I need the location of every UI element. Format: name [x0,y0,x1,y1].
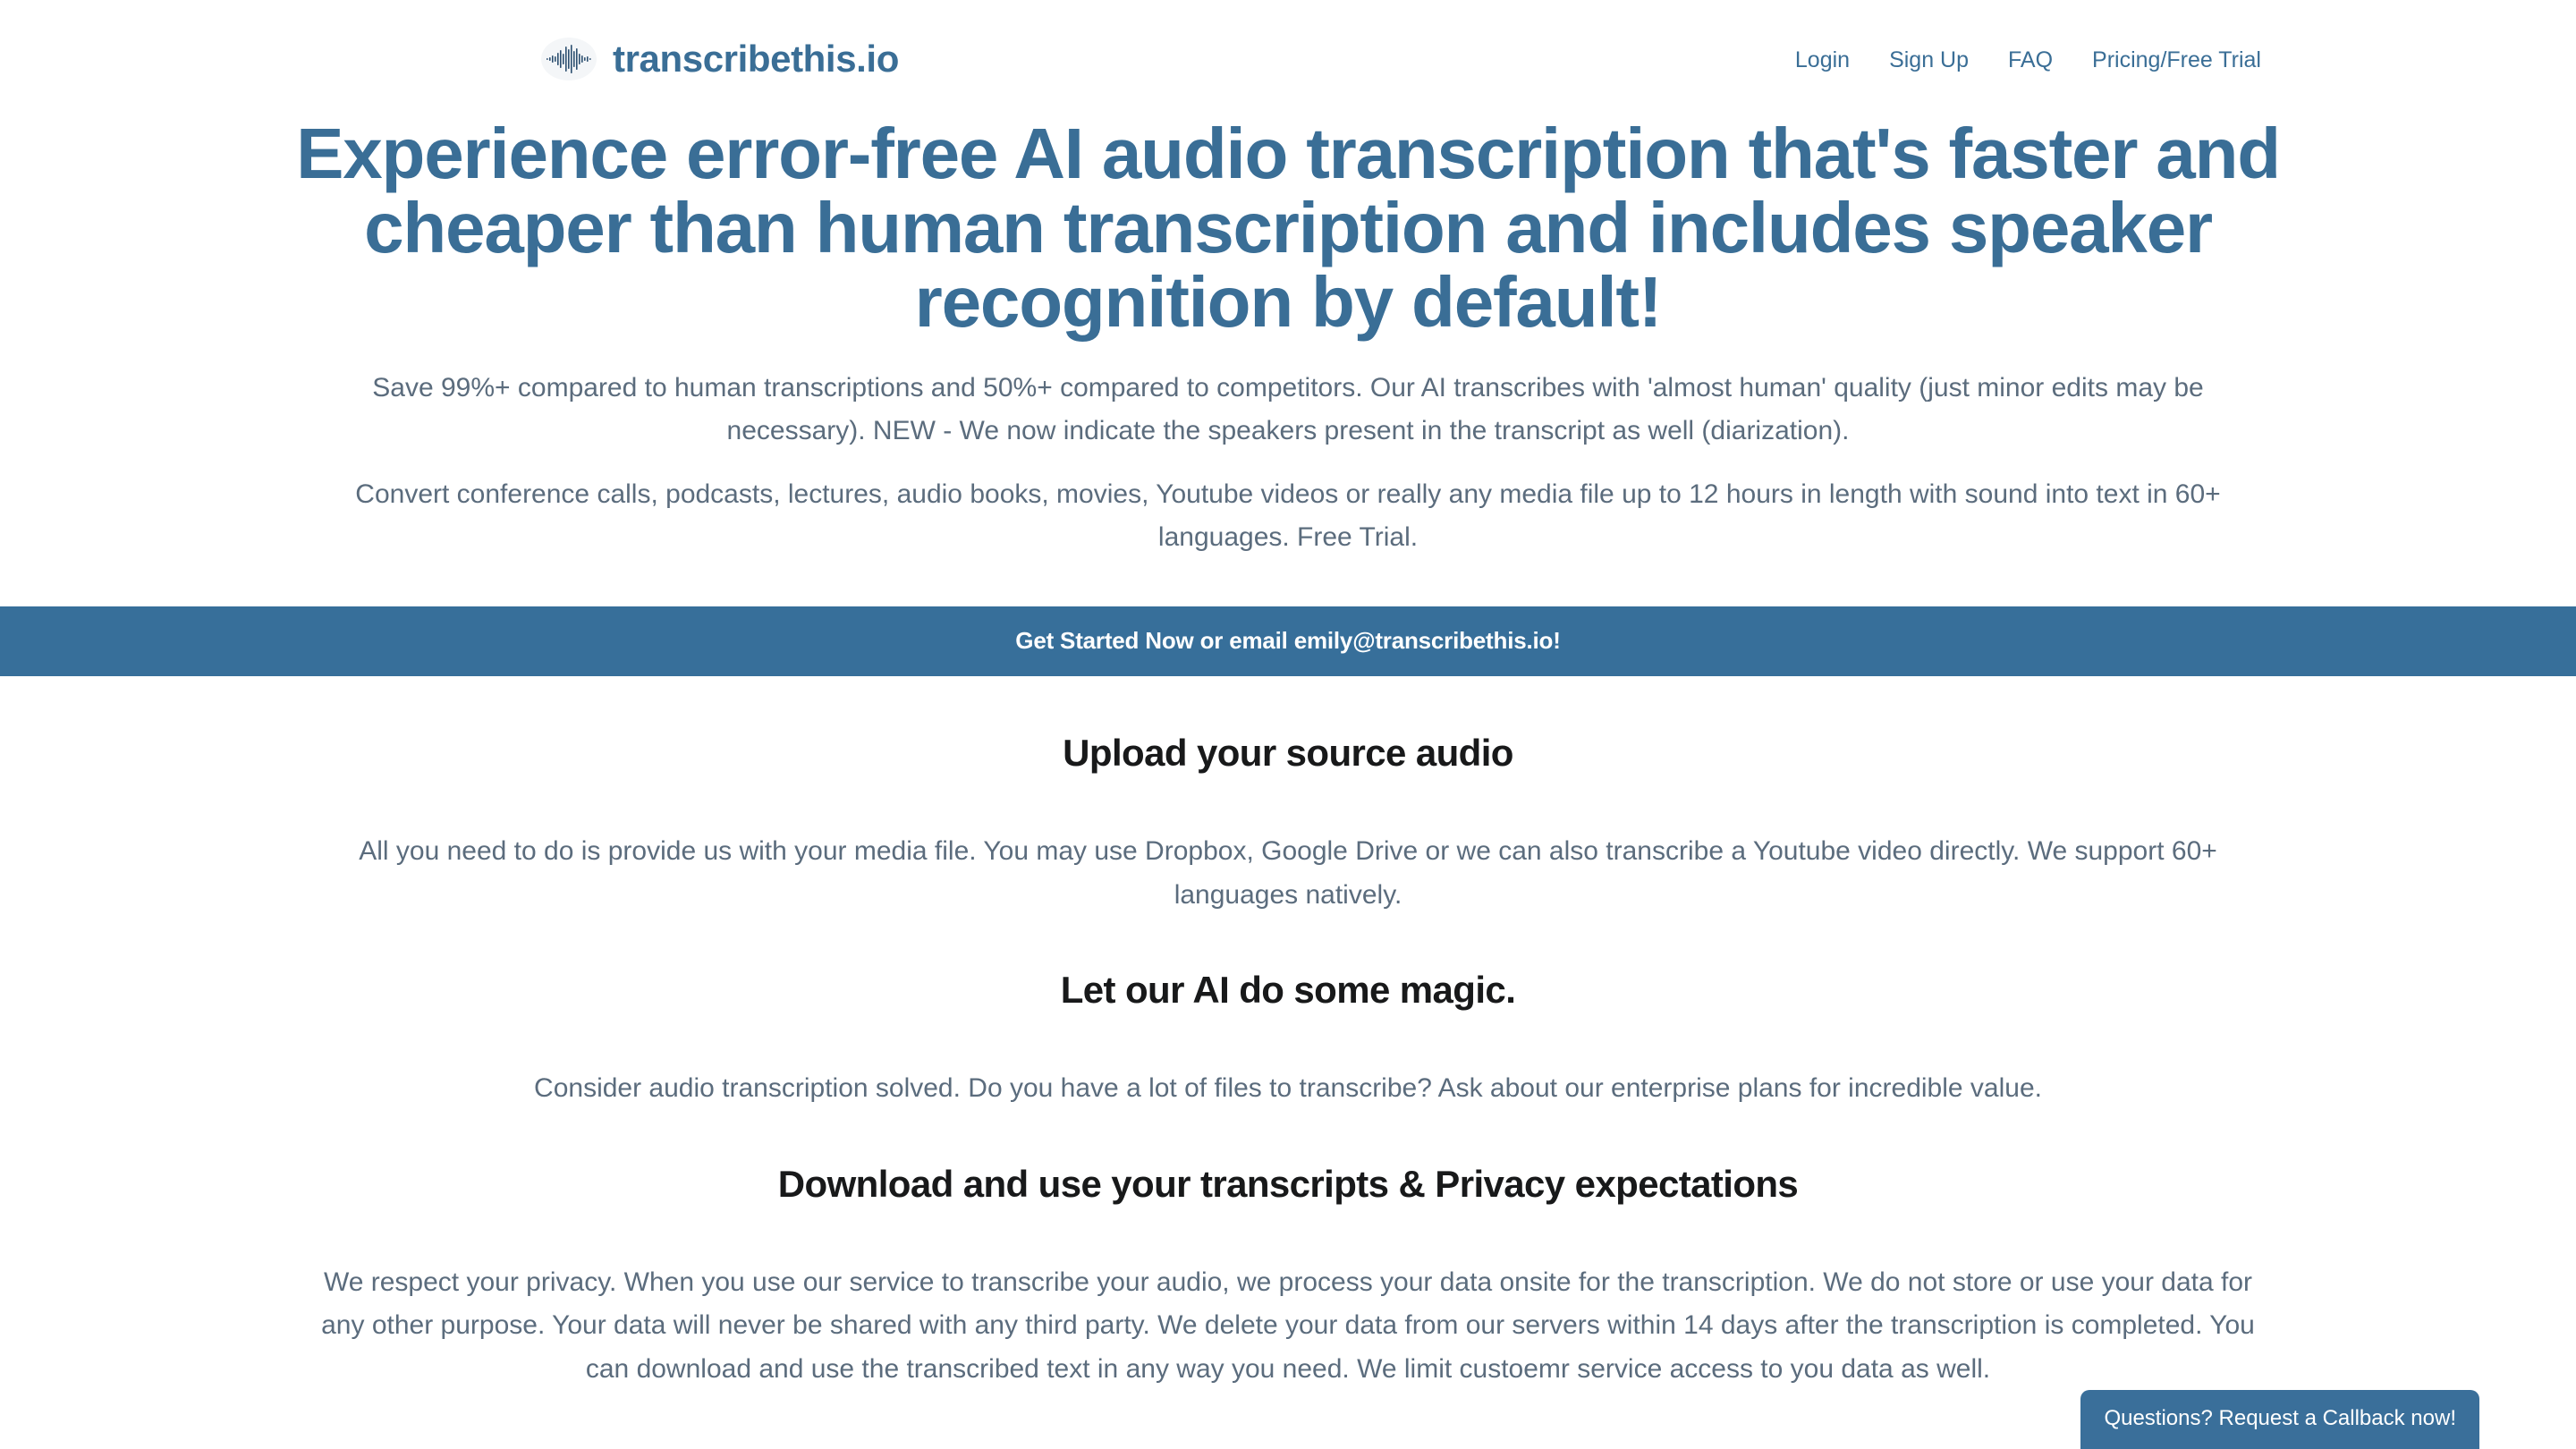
section-body-upload: All you need to do is provide us with yo… [304,830,2272,917]
cta-banner[interactable]: Get Started Now or email emily@transcrib… [0,606,2576,676]
spacer [0,917,2576,969]
section-heading-ai-magic: Let our AI do some magic. [0,969,2576,1012]
section-heading-upload: Upload your source audio [0,732,2576,775]
main-navigation: Login Sign Up FAQ Pricing/Free Trial [1795,46,2261,73]
hero-section: Experience error-free AI audio transcrip… [0,98,2576,560]
section-body-download-privacy: We respect your privacy. When you use ou… [304,1261,2272,1392]
landing-page: transcribethis.io Login Sign Up FAQ Pric… [0,0,2576,1449]
spacer [0,1012,2576,1067]
content-sections: Upload your source audio All you need to… [0,676,2576,1392]
brand-name: transcribethis.io [613,38,899,80]
hero-paragraph-2: Convert conference calls, podcasts, lect… [322,473,2254,560]
hero-paragraph-1: Save 99%+ compared to human transcriptio… [322,367,2254,453]
brand-logo-link[interactable]: transcribethis.io [541,38,899,80]
section-body-ai-magic: Consider audio transcription solved. Do … [304,1067,2272,1111]
nav-link-pricing-free-trial[interactable]: Pricing/Free Trial [2092,47,2261,73]
nav-link-faq[interactable]: FAQ [2008,47,2053,73]
cta-banner-text: Get Started Now or email emily@transcrib… [1015,627,1560,655]
nav-link-login[interactable]: Login [1795,47,1850,73]
spacer [0,775,2576,830]
audio-waveform-icon [541,38,597,80]
site-header: transcribethis.io Login Sign Up FAQ Pric… [0,0,2576,98]
section-heading-download-privacy: Download and use your transcripts & Priv… [0,1163,2576,1206]
page-title: Experience error-free AI audio transcrip… [241,116,2334,340]
spacer [0,1206,2576,1261]
nav-link-sign-up[interactable]: Sign Up [1889,47,1969,73]
spacer [0,1111,2576,1163]
request-callback-button[interactable]: Questions? Request a Callback now! [2080,1390,2479,1449]
